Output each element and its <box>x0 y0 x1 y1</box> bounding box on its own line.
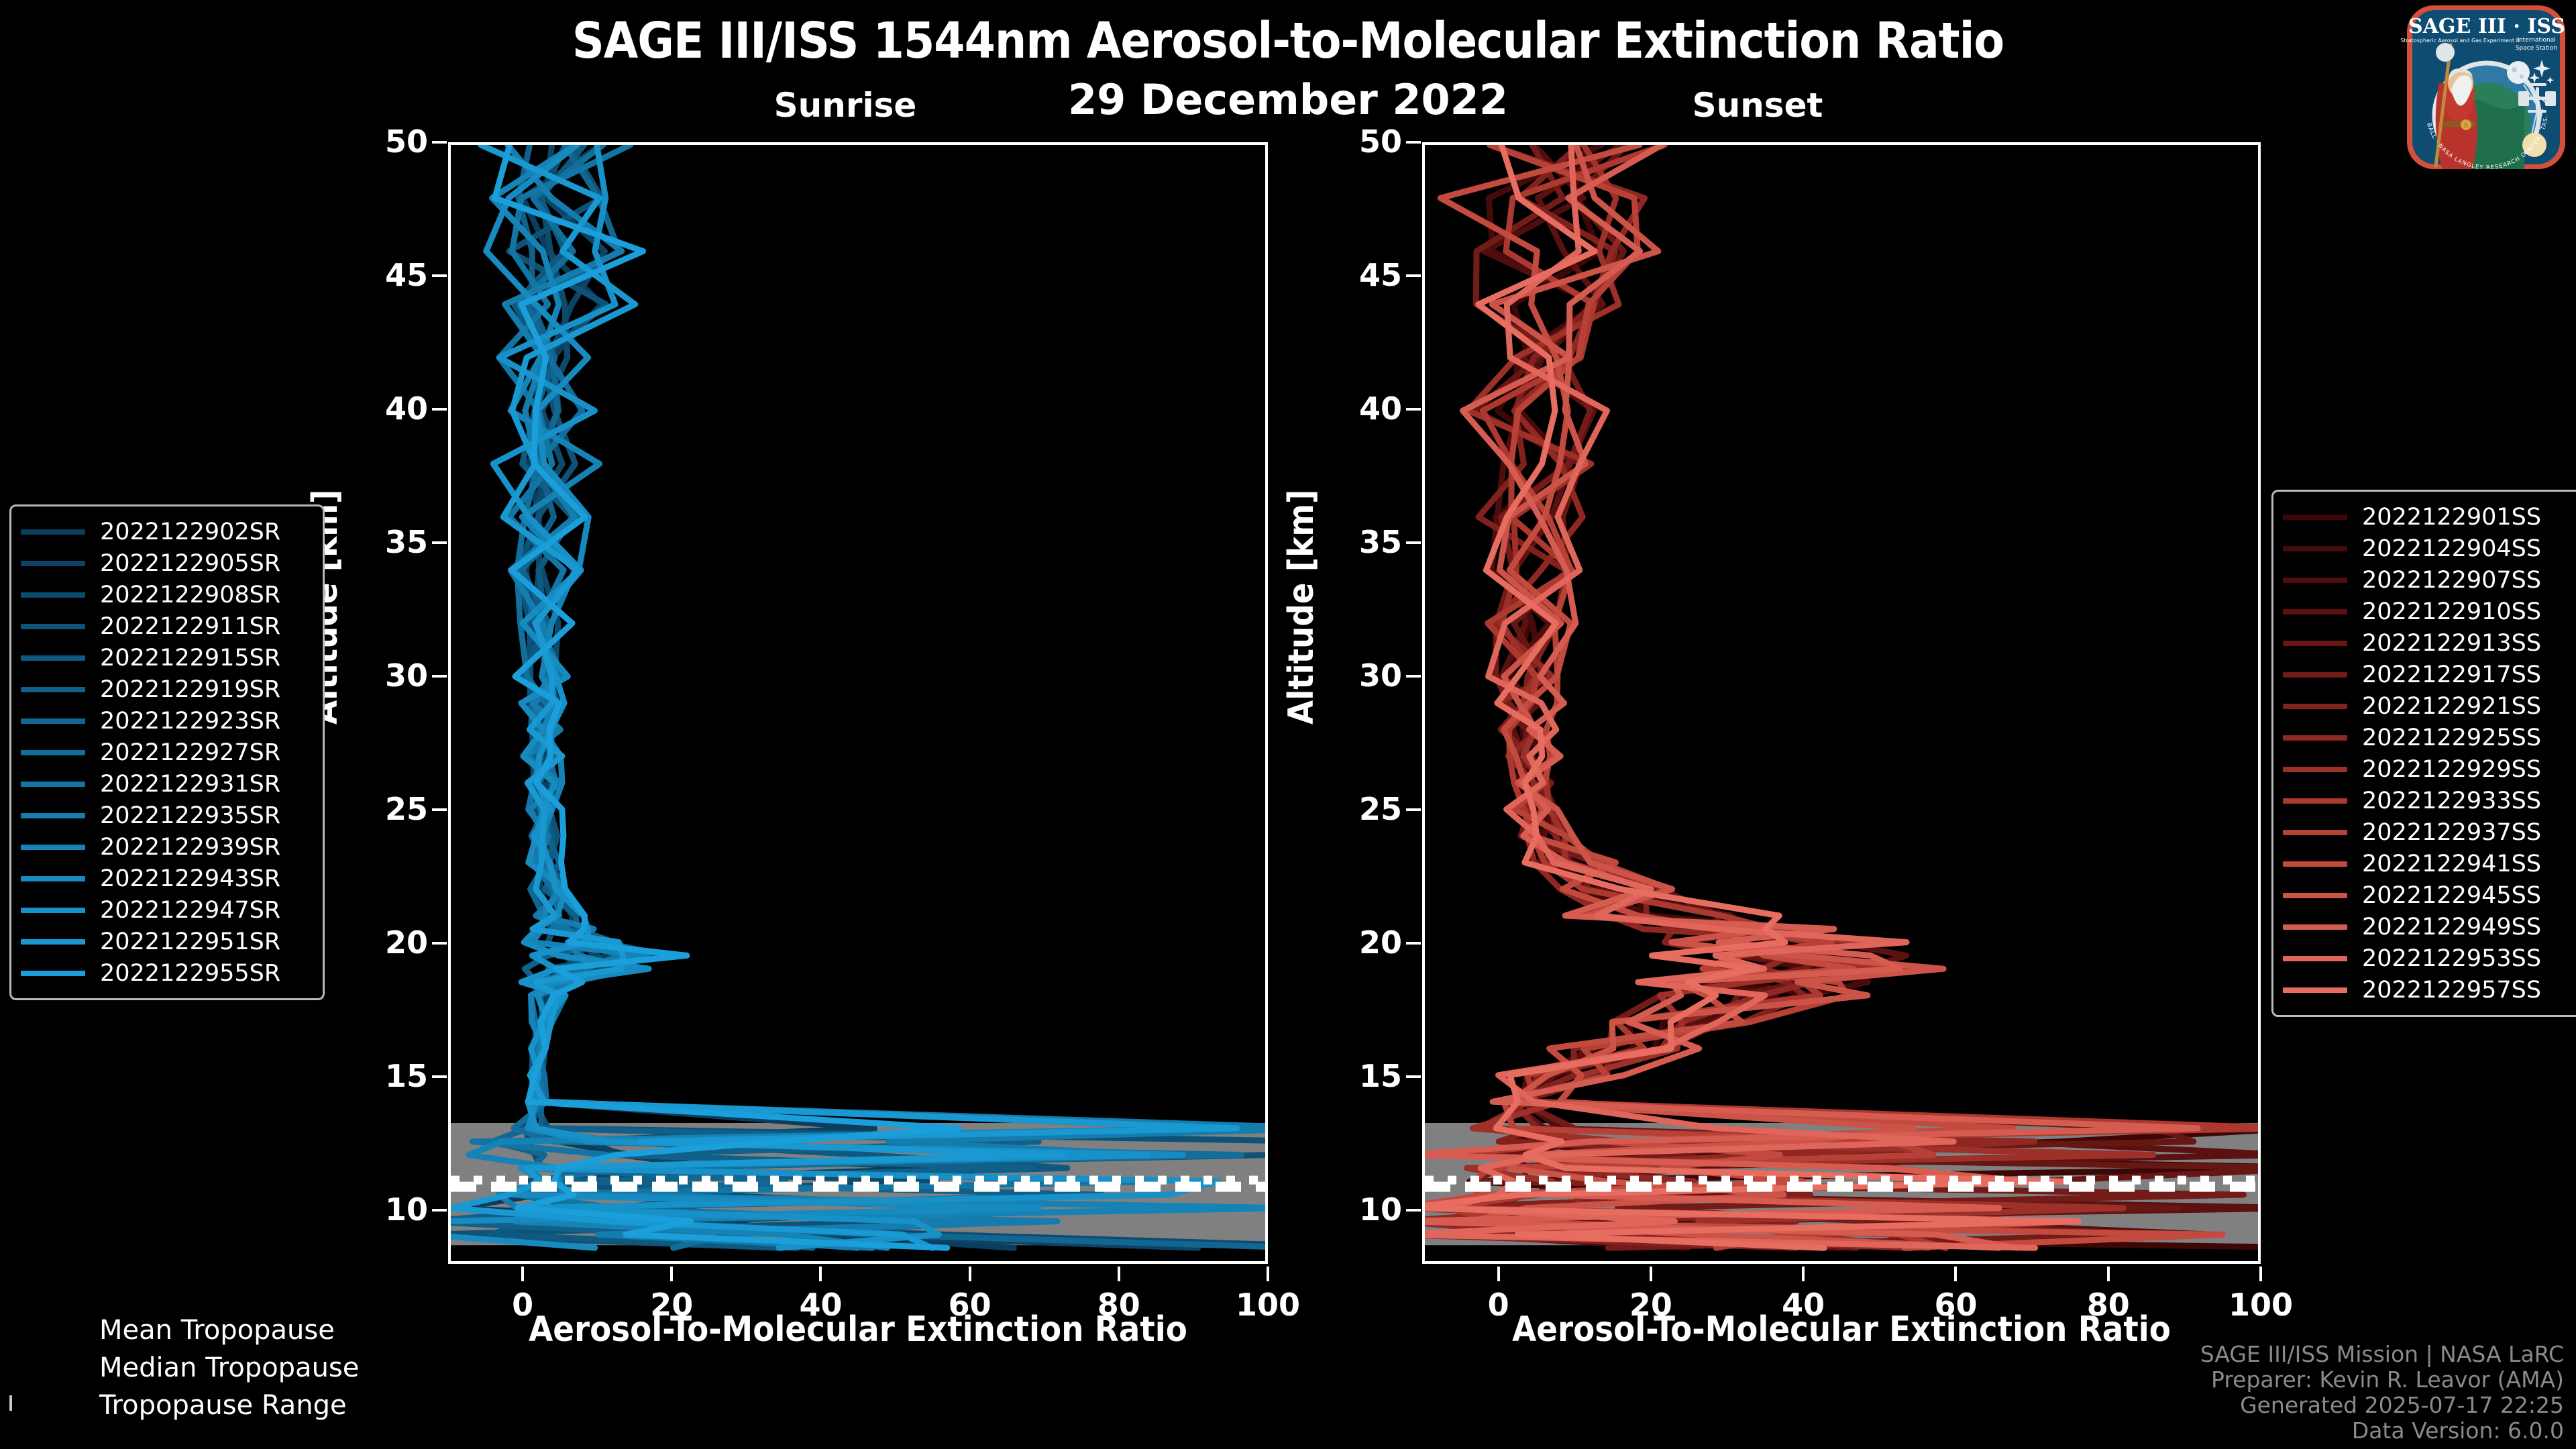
sunrise-legend-label: 2022122908SR <box>100 582 280 608</box>
sunset-legend-label: 2022122907SS <box>2362 567 2541 594</box>
sunrise-legend-label: 2022122919SR <box>100 676 280 703</box>
legend-label-tropopause-range: Tropopause Range <box>99 1390 347 1421</box>
sunrise-y-tick-label: 15 <box>327 1058 428 1094</box>
page-subtitle: 29 December 2022 <box>0 75 2576 124</box>
sunset-y-tick-label: 20 <box>1301 924 1402 961</box>
line-swatch-icon <box>21 529 85 535</box>
line-swatch-icon <box>21 687 85 692</box>
sunset-legend-label: 2022122937SS <box>2362 819 2541 846</box>
sunset-plot-panel <box>1422 142 2261 1264</box>
legend-item-tropopause-range: Tropopause Range <box>9 1387 358 1424</box>
sunset-legend-label: 2022122929SS <box>2362 756 2541 783</box>
line-swatch-icon <box>21 939 85 945</box>
sunrise-y-tick-mark <box>432 808 447 811</box>
sunset-y-tick-label: 25 <box>1301 791 1402 827</box>
line-swatch-icon <box>21 750 85 755</box>
sunset-legend-label: 2022122910SS <box>2362 598 2541 625</box>
sunset-panel-heading: Sunset <box>1583 86 1932 125</box>
sunrise-y-tick-label: 50 <box>327 123 428 160</box>
sunset-legend-item[interactable]: 2022122953SS <box>2283 943 2576 974</box>
dotted-line-icon <box>9 1359 83 1377</box>
sunrise-y-tick-mark <box>432 675 447 678</box>
sunrise-legend-item[interactable]: 2022122915SR <box>21 642 309 674</box>
sunrise-x-tick-mark <box>819 1267 822 1281</box>
sunset-y-tick-mark <box>1406 1209 1421 1212</box>
line-swatch-icon <box>2283 609 2347 614</box>
sunrise-x-tick-mark <box>1267 1267 1269 1281</box>
gray-patch-icon <box>9 1397 83 1414</box>
sunrise-legend-item[interactable]: 2022122935SR <box>21 800 309 831</box>
sunset-x-tick-mark <box>1802 1267 1805 1281</box>
page-title: SAGE III/ISS 1544nm Aerosol-to-Molecular… <box>0 12 2576 70</box>
line-swatch-icon <box>21 624 85 629</box>
sunset-legend-label: 2022122941SS <box>2362 851 2541 877</box>
sunrise-x-tick-mark <box>969 1267 971 1281</box>
sunset-legend-item[interactable]: 2022122910SS <box>2283 596 2576 627</box>
sunrise-x-tick-mark <box>1118 1267 1120 1281</box>
sunrise-legend-label: 2022122931SR <box>100 771 280 798</box>
sunrise-legend-item[interactable]: 2022122905SR <box>21 547 309 579</box>
sunset-legend-label: 2022122945SS <box>2362 882 2541 909</box>
line-swatch-icon <box>21 561 85 566</box>
sunrise-legend-label: 2022122927SR <box>100 739 280 766</box>
sunrise-legend-item[interactable]: 2022122943SR <box>21 863 309 894</box>
sunrise-legend-item[interactable]: 2022122955SR <box>21 957 309 989</box>
sunrise-event-legend[interactable]: 2022122902SR2022122905SR2022122908SR2022… <box>9 504 325 1000</box>
line-swatch-icon <box>21 845 85 850</box>
sunset-legend-item[interactable]: 2022122937SS <box>2283 816 2576 848</box>
line-swatch-icon <box>2283 704 2347 709</box>
sunrise-profile-line <box>493 145 1218 1248</box>
sunrise-y-tick-mark <box>432 942 447 945</box>
logo-title: SAGE III · ISS <box>2408 15 2565 38</box>
sunrise-legend-item[interactable]: 2022122931SR <box>21 768 309 800</box>
sunset-legend-item[interactable]: 2022122933SS <box>2283 785 2576 816</box>
line-swatch-icon <box>2283 672 2347 678</box>
sunrise-x-tick-mark <box>670 1267 673 1281</box>
line-swatch-icon <box>2283 798 2347 804</box>
sunrise-y-tick-label: 45 <box>327 257 428 293</box>
line-swatch-icon <box>2283 987 2347 993</box>
line-swatch-icon <box>2283 578 2347 583</box>
sunrise-profile-line <box>498 145 1265 1248</box>
line-swatch-icon <box>21 655 85 661</box>
sunrise-legend-label: 2022122923SR <box>100 708 280 735</box>
sunset-legend-item[interactable]: 2022122913SS <box>2283 627 2576 659</box>
tropopause-legend: Mean Tropopause Median Tropopause Tropop… <box>9 1311 358 1424</box>
sunset-y-tick-label: 50 <box>1301 123 1402 160</box>
line-swatch-icon <box>21 813 85 818</box>
sunset-legend-label: 2022122913SS <box>2362 630 2541 657</box>
sunrise-y-tick-mark <box>432 1075 447 1078</box>
line-swatch-icon <box>21 971 85 976</box>
sunset-legend-item[interactable]: 2022122917SS <box>2283 659 2576 690</box>
sunrise-legend-label: 2022122902SR <box>100 519 280 545</box>
sunset-legend-item[interactable]: 2022122941SS <box>2283 848 2576 879</box>
sunrise-profile-line <box>526 145 1265 1248</box>
sunset-legend-item[interactable]: 2022122901SS <box>2283 501 2576 533</box>
sunrise-legend-item[interactable]: 2022122927SR <box>21 737 309 768</box>
sunrise-x-axis-label: Aerosol-To-Molecular Extinction Ratio <box>448 1309 1268 1350</box>
sunrise-profile-line <box>472 145 1233 1248</box>
sunset-x-axis-label: Aerosol-To-Molecular Extinction Ratio <box>1422 1309 2261 1350</box>
footer-line-data-version: Data Version: 6.0.0 <box>2200 1418 2564 1444</box>
line-swatch-icon <box>21 908 85 913</box>
sunrise-legend-item[interactable]: 2022122919SR <box>21 674 309 705</box>
sunrise-y-tick-mark <box>432 541 447 544</box>
line-swatch-icon <box>21 782 85 787</box>
sunrise-legend-item[interactable]: 2022122947SR <box>21 894 309 926</box>
svg-text:S: S <box>2464 123 2468 129</box>
sunset-x-tick-mark <box>2107 1267 2110 1281</box>
legend-item-mean-tropopause: Mean Tropopause <box>9 1311 358 1349</box>
sunset-legend-label: 2022122925SS <box>2362 724 2541 751</box>
line-swatch-icon <box>2283 641 2347 646</box>
line-swatch-icon <box>2283 830 2347 835</box>
sunset-legend-label: 2022122904SS <box>2362 535 2541 562</box>
sunset-legend-label: 2022122917SS <box>2362 661 2541 688</box>
sunset-legend-item[interactable]: 2022122929SS <box>2283 753 2576 785</box>
sunrise-legend-label: 2022122943SR <box>100 865 280 892</box>
footer-line-generated: Generated 2025-07-17 22:25 <box>2200 1393 2564 1418</box>
sunrise-legend-label: 2022122939SR <box>100 834 280 861</box>
sunrise-panel-heading: Sunrise <box>671 86 1020 125</box>
sunset-y-tick-mark <box>1406 408 1421 411</box>
sunset-event-legend[interactable]: 2022122901SS2022122904SS2022122907SS2022… <box>2271 490 2576 1017</box>
sunset-legend-item[interactable]: 2022122957SS <box>2283 974 2576 1006</box>
line-swatch-icon <box>21 718 85 724</box>
line-swatch-icon <box>2283 515 2347 520</box>
sunrise-legend-item[interactable]: 2022122951SR <box>21 926 309 957</box>
sunrise-legend-label: 2022122911SR <box>100 613 280 640</box>
line-swatch-icon <box>2283 893 2347 898</box>
sunset-x-tick-mark <box>2259 1267 2262 1281</box>
sunrise-y-tick-label: 40 <box>327 390 428 427</box>
sunrise-legend-label: 2022122915SR <box>100 645 280 672</box>
line-swatch-icon <box>21 592 85 598</box>
sunrise-y-tick-label: 20 <box>327 924 428 961</box>
sunset-y-tick-label: 40 <box>1301 390 1402 427</box>
sunset-y-tick-mark <box>1406 942 1421 945</box>
sunrise-profile-line <box>451 145 1265 1248</box>
sunset-y-tick-mark <box>1406 274 1421 277</box>
sunset-y-axis-label: Altitude [km] <box>1281 490 1322 724</box>
sunrise-legend-label: 2022122951SR <box>100 928 280 955</box>
sunset-x-tick-mark <box>1497 1267 1500 1281</box>
sunrise-legend-label: 2022122947SR <box>100 897 280 924</box>
sunset-y-tick-label: 45 <box>1301 257 1402 293</box>
sunrise-plot-panel <box>448 142 1268 1264</box>
sunrise-y-tick-label: 10 <box>327 1191 428 1228</box>
legend-label-median-tropopause: Median Tropopause <box>99 1352 359 1383</box>
sunset-y-tick-mark <box>1406 541 1421 544</box>
line-swatch-icon <box>2283 956 2347 961</box>
sunset-x-tick-mark <box>1650 1267 1652 1281</box>
line-swatch-icon <box>2283 861 2347 867</box>
line-swatch-icon <box>2283 767 2347 772</box>
sunrise-legend-label: 2022122935SR <box>100 802 280 829</box>
sunrise-legend-label: 2022122955SR <box>100 960 280 987</box>
sunset-legend-item[interactable]: 2022122907SS <box>2283 564 2576 596</box>
sunset-legend-label: 2022122933SS <box>2362 788 2541 814</box>
sunrise-profile-line <box>469 145 1265 1248</box>
logo-subtitle-right-1: International <box>2517 37 2555 44</box>
sunset-legend-label: 2022122949SS <box>2362 914 2541 941</box>
sunrise-y-tick-mark <box>432 408 447 411</box>
sunset-legend-label: 2022122957SS <box>2362 977 2541 1004</box>
sunrise-y-tick-mark <box>432 141 447 144</box>
legend-item-median-tropopause: Median Tropopause <box>9 1349 358 1387</box>
footer-line-mission: SAGE III/ISS Mission | NASA LaRC <box>2200 1342 2564 1367</box>
sunrise-y-tick-label: 25 <box>327 791 428 827</box>
sunrise-legend-label: 2022122905SR <box>100 550 280 577</box>
sunset-legend-item[interactable]: 2022122925SS <box>2283 722 2576 753</box>
sunrise-profile-line <box>490 145 1067 1248</box>
sunset-y-tick-mark <box>1406 1075 1421 1078</box>
sunset-legend-item[interactable]: 2022122904SS <box>2283 533 2576 564</box>
sunrise-y-tick-mark <box>432 1209 447 1212</box>
sunset-y-tick-label: 10 <box>1301 1191 1402 1228</box>
legend-label-mean-tropopause: Mean Tropopause <box>99 1315 335 1346</box>
sage-iii-iss-mission-patch-logo: S BALL · NASA LANGLEY RESEARCH CENTER · … <box>2399 3 2573 170</box>
sunrise-legend-item[interactable]: 2022122911SR <box>21 610 309 642</box>
line-swatch-icon <box>2283 924 2347 930</box>
line-swatch-icon <box>21 876 85 881</box>
sunrise-legend-item[interactable]: 2022122902SR <box>21 516 309 547</box>
footer-credits: SAGE III/ISS Mission | NASA LaRC Prepare… <box>2200 1342 2564 1444</box>
sunset-legend-label: 2022122901SS <box>2362 504 2541 531</box>
sunset-y-tick-mark <box>1406 141 1421 144</box>
sunset-legend-label: 2022122953SS <box>2362 945 2541 972</box>
sunrise-x-tick-mark <box>521 1267 524 1281</box>
line-swatch-icon <box>2283 735 2347 741</box>
logo-subtitle-right-2: Space Station <box>2516 45 2557 52</box>
sunset-y-tick-mark <box>1406 808 1421 811</box>
dashed-line-icon <box>9 1322 83 1339</box>
sunset-x-tick-mark <box>1954 1267 1957 1281</box>
sunset-legend-label: 2022122921SS <box>2362 693 2541 720</box>
sunset-legend-item[interactable]: 2022122949SS <box>2283 911 2576 943</box>
sunrise-y-tick-mark <box>432 274 447 277</box>
logo-subtitle-left: Stratospheric Aerosol and Gas Experiment… <box>2400 38 2520 44</box>
sunrise-legend-item[interactable]: 2022122923SR <box>21 705 309 737</box>
sunrise-legend-item[interactable]: 2022122908SR <box>21 579 309 610</box>
sunset-legend-item[interactable]: 2022122945SS <box>2283 879 2576 911</box>
footer-line-preparer: Preparer: Kevin R. Leavor (AMA) <box>2200 1367 2564 1393</box>
line-swatch-icon <box>2283 546 2347 551</box>
sunrise-legend-item[interactable]: 2022122939SR <box>21 831 309 863</box>
sunset-legend-item[interactable]: 2022122921SS <box>2283 690 2576 722</box>
sunset-y-tick-mark <box>1406 675 1421 678</box>
sunset-y-tick-label: 15 <box>1301 1058 1402 1094</box>
